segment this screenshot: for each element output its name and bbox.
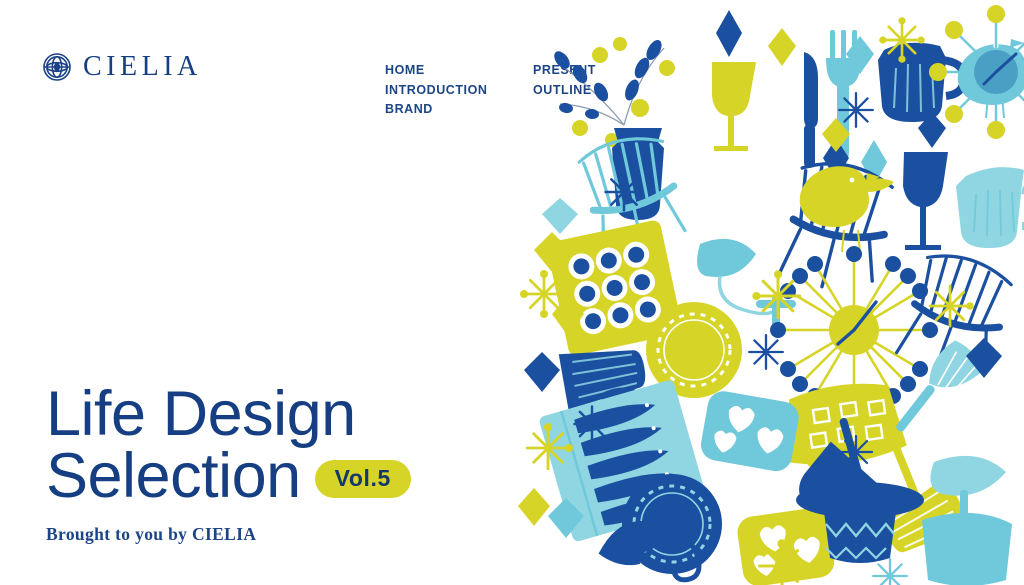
hero-title-line-2-row: Selection Vol.5 [46,445,516,507]
starburst-navy-3 [574,406,609,441]
wine-glass-yellow [712,62,756,151]
hero-title-block: Life Design Selection Vol.5 Brought to y… [46,383,516,545]
diamond-yellow-4 [768,28,796,66]
diamond-navy [716,10,742,57]
brand-name: CIELIA [83,53,202,81]
brand-logo[interactable]: CIELIA [42,52,202,82]
starburst-navy-2 [606,174,643,211]
diamond-yellow-3 [518,488,550,526]
housewares-illustration [504,0,1024,585]
sunburst-clock-cyan [929,5,1024,139]
landing-page: CIELIA HOME INTRODUCTION BRAND PRESENT O… [0,0,1024,585]
starburst-navy-5 [840,436,872,468]
wine-glass-navy [903,152,948,250]
globe-icon [42,52,72,82]
starburst-cyan-1 [873,559,907,585]
hero-title-line-2: Selection [46,445,301,507]
volume-badge: Vol.5 [315,460,411,498]
tray-cyan [698,389,801,474]
knife-navy [804,52,818,168]
hero-subtitle: Brought to you by CIELIA [46,524,516,545]
starburst-navy-1 [839,93,873,127]
diamond-cyan-2 [542,198,578,234]
pitcher-cyan [956,167,1024,248]
lamp-cyan-2 [922,456,1012,585]
hero-title-line-1: Life Design [46,383,516,445]
starburst-navy-4 [749,335,783,369]
diamond-navy-3 [524,352,560,392]
